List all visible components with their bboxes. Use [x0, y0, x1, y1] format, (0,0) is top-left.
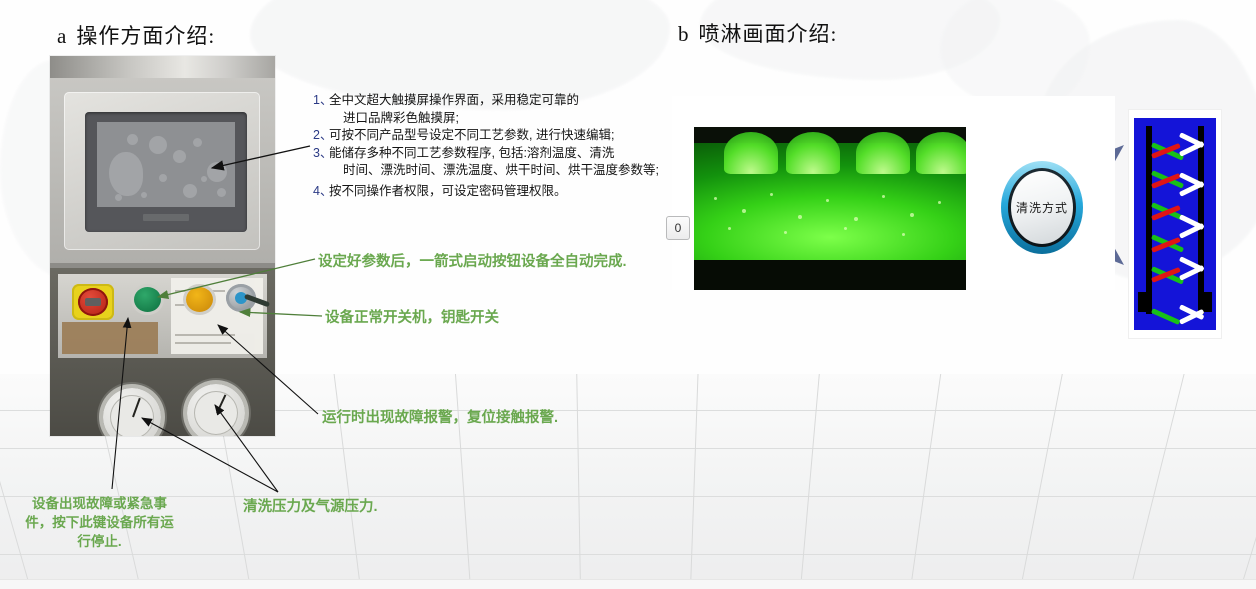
list-item-text: 可按不同产品型号设定不同工艺参数, 进行快速编辑;: [329, 127, 693, 145]
pressure-gauge-icon: [103, 388, 161, 436]
annotation-emergency-stop: 设备出现故障或紧急事件，按下此键设备所有运行停止.: [22, 494, 177, 551]
diagram-canvas: [1134, 118, 1216, 330]
list-item-continuation: 时间、漂洗时间、漂洗温度、烘干时间、烘干温度参数等;: [313, 162, 693, 180]
workbench-surface: [62, 322, 158, 354]
diagram-rail-right: [1198, 126, 1204, 314]
section-a-title: 操作方面介绍:: [76, 24, 215, 48]
hmi-brand-logo: [143, 214, 189, 221]
diagram-foot-left: [1138, 292, 1152, 312]
list-item: 3、能储存多种不同工艺参数程序, 包括:溶剂温度、清洗: [313, 145, 693, 163]
world-map-watermark: [940, 0, 1090, 110]
annotation-start-button: 设定好参数后，一箭式启动按钮设备全自动完成.: [318, 252, 627, 272]
section-a-heading: a操作方面介绍:: [57, 20, 215, 50]
spray-photo: [694, 127, 966, 290]
list-item: 4、按不同操作者权限，可设定密码管理权限。: [313, 183, 693, 201]
list-item: 2、可按不同产品型号设定不同工艺参数, 进行快速编辑;: [313, 127, 693, 145]
spray-pipe-diagram: [1129, 110, 1221, 338]
orange-reset-button-icon[interactable]: [186, 287, 213, 312]
annotation-pressure-gauge: 清洗压力及气源压力.: [243, 497, 378, 517]
list-item-text: 能储存多种不同工艺参数程序, 包括:溶剂温度、清洗: [329, 145, 693, 163]
machine-upper-bay: [50, 78, 275, 263]
cleaning-machine-photo: [50, 56, 275, 436]
list-item: 1、全中文超大触摸屏操作界面，采用稳定可靠的: [313, 92, 693, 110]
list-item-number: 4、: [313, 183, 329, 201]
counter-badge[interactable]: 0: [666, 216, 690, 240]
touchscreen-icon: [85, 112, 247, 232]
machine-lower-bay: [50, 268, 275, 436]
list-item-number: 1、: [313, 92, 329, 110]
list-item-number: 2、: [313, 127, 329, 145]
node-label: 清洗方式: [1016, 199, 1068, 216]
stop-icon[interactable]: [78, 288, 108, 316]
green-start-button-icon[interactable]: [134, 287, 161, 312]
list-item-text: 全中文超大触摸屏操作界面，采用稳定可靠的: [329, 92, 693, 110]
control-plate: [58, 274, 267, 358]
section-b-letter: b: [678, 22, 699, 46]
section-b-heading: b喷淋画面介绍:: [678, 18, 837, 48]
section-b-title: 喷淋画面介绍:: [699, 22, 838, 46]
machine-top-strip: [50, 56, 275, 78]
hmi-screen: [97, 122, 235, 207]
annotation-fault-alarm: 运行时出现故障报警，复位接触报警.: [322, 408, 558, 428]
pressure-gauge-icon: [187, 384, 245, 436]
list-item-continuation: 进口品牌彩色触摸屏;: [313, 110, 693, 128]
hmi-bezel: [64, 92, 260, 250]
node-face: 清洗方式: [1011, 171, 1073, 244]
list-item-number: 3、: [313, 145, 329, 163]
list-item-text: 按不同操作者权限，可设定密码管理权限。: [329, 183, 693, 201]
cleaning-method-node[interactable]: 清洗方式: [1001, 161, 1083, 254]
feature-list: 1、全中文超大触摸屏操作界面，采用稳定可靠的 进口品牌彩色触摸屏; 2、可按不同…: [313, 92, 693, 200]
section-a-letter: a: [57, 24, 76, 48]
annotation-key-switch: 设备正常开关机，钥匙开关: [325, 308, 499, 328]
